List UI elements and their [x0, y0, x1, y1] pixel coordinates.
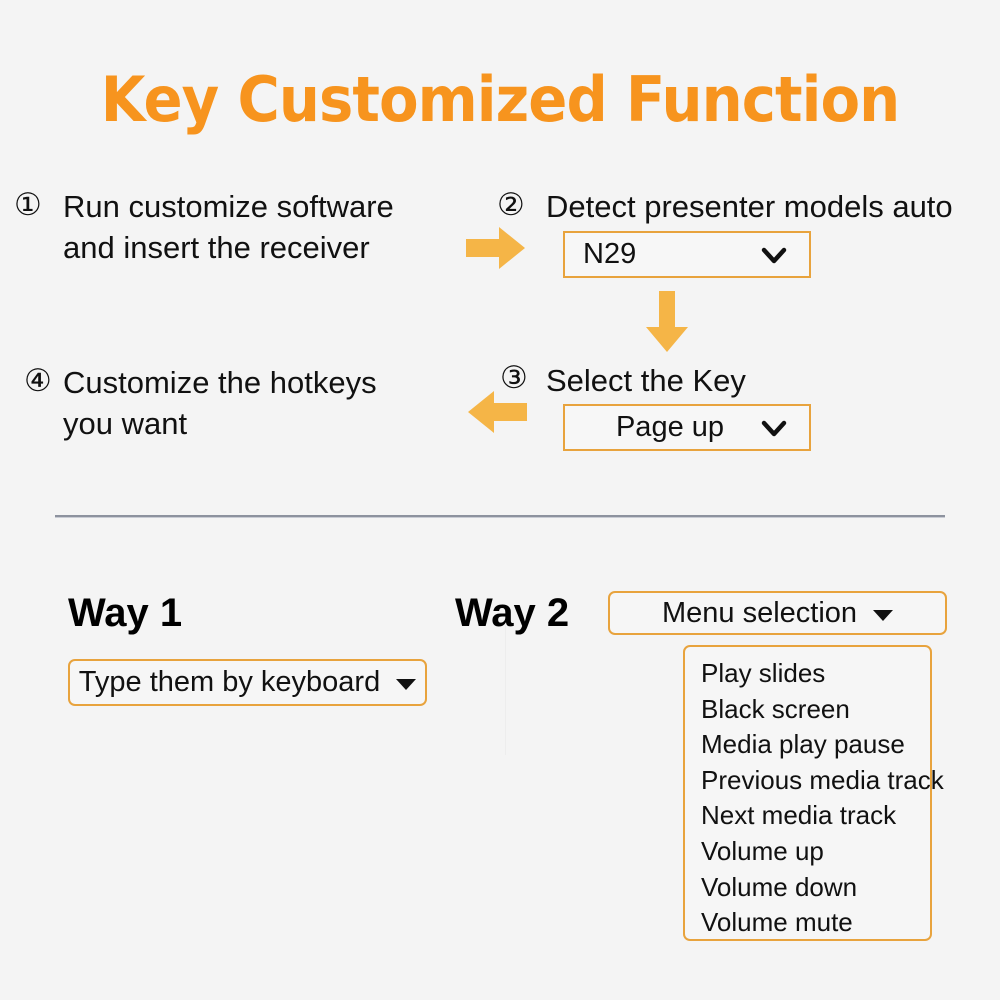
- list-item[interactable]: Media play pause: [701, 727, 930, 763]
- step-text-1: Run customize software and insert the re…: [63, 186, 394, 268]
- step-number-4: ④: [24, 366, 52, 397]
- arrow-left-icon: [466, 390, 528, 434]
- list-item[interactable]: Black screen: [701, 692, 930, 728]
- list-item[interactable]: Volume up: [701, 834, 930, 870]
- section-divider-shadow: [55, 517, 945, 518]
- list-item[interactable]: Previous media track: [701, 763, 930, 799]
- step-number-1: ①: [14, 190, 42, 221]
- page-title: Key Customized Function: [35, 64, 965, 136]
- step-number-2: ②: [497, 190, 525, 221]
- caret-down-icon: [396, 679, 416, 690]
- presenter-model-value: N29: [583, 240, 636, 269]
- key-select[interactable]: Page up: [563, 404, 811, 451]
- list-item[interactable]: Volume mute: [701, 905, 930, 941]
- step-text-3: Select the Key: [546, 360, 746, 401]
- menu-selection-button[interactable]: Menu selection: [608, 591, 947, 635]
- chevron-down-icon: [761, 242, 787, 268]
- step-text-4: Customize the hotkeys you want: [63, 362, 377, 444]
- column-guide-line: [505, 625, 506, 755]
- type-by-keyboard-label: Type them by keyboard: [79, 668, 380, 697]
- way2-heading: Way 2: [455, 591, 569, 635]
- arrow-down-icon: [645, 291, 689, 353]
- chevron-down-icon: [761, 415, 787, 441]
- page-root: Key Customized Function ① Run customize …: [0, 0, 1000, 1000]
- type-by-keyboard-option[interactable]: Type them by keyboard: [68, 659, 427, 706]
- step-text-2: Detect presenter models auto: [546, 186, 953, 227]
- menu-selection-label: Menu selection: [662, 599, 857, 628]
- list-item[interactable]: Volume down: [701, 870, 930, 906]
- presenter-model-select[interactable]: N29: [563, 231, 811, 278]
- list-item[interactable]: Play slides: [701, 656, 930, 692]
- menu-item-list[interactable]: Play slides Black screen Media play paus…: [683, 645, 932, 941]
- arrow-right-icon: [466, 226, 526, 270]
- way1-heading: Way 1: [68, 591, 182, 635]
- caret-down-icon: [873, 610, 893, 621]
- list-item[interactable]: Next media track: [701, 798, 930, 834]
